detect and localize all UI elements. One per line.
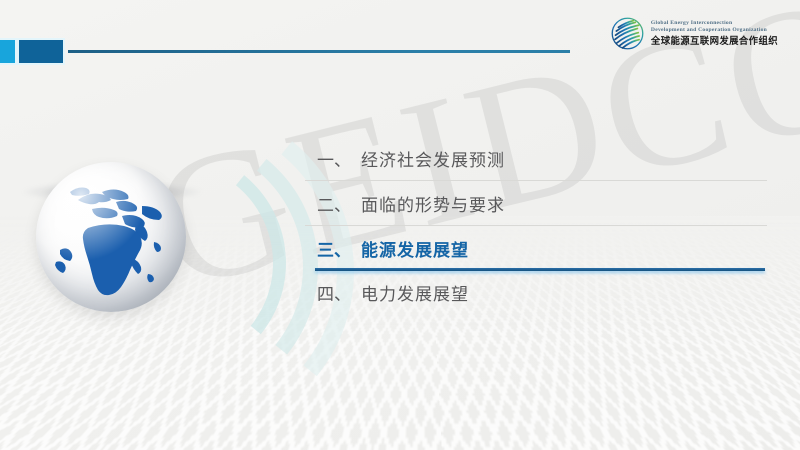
agenda-list: 一、 经济社会发展预测 二、 面临的形势与要求 三、 能源发展展望 四、 电力发…	[305, 136, 767, 314]
agenda-item-4-number: 四、	[305, 280, 361, 305]
agenda-item-4[interactable]: 四、 电力发展展望	[305, 270, 767, 314]
agenda-item-1-number: 一、	[305, 146, 361, 171]
globe-illustration	[36, 162, 186, 312]
header-accent-square-cyan	[0, 40, 15, 63]
logo-text-block: Global Energy Interconnection Developmen…	[651, 20, 778, 48]
agenda-item-1[interactable]: 一、 经济社会发展预测	[305, 136, 767, 181]
globe-earth-icon	[36, 162, 186, 312]
geidco-globe-mark-icon	[611, 17, 644, 50]
agenda-item-1-label: 经济社会发展预测	[361, 146, 505, 171]
agenda-item-3-label: 能源发展展望	[361, 236, 469, 261]
logo-english-line2: Development and Cooperation Organization	[651, 27, 778, 34]
agenda-item-3-number: 三、	[305, 236, 361, 261]
presentation-slide: GEIDCO	[0, 0, 800, 450]
header-divider-line	[68, 50, 570, 53]
logo-chinese-name: 全球能源互联网发展合作组织	[651, 35, 778, 47]
agenda-item-3[interactable]: 三、 能源发展展望	[305, 226, 767, 270]
agenda-item-2[interactable]: 二、 面临的形势与要求	[305, 181, 767, 226]
header-accent-square-blue	[19, 40, 63, 63]
geidco-logo: Global Energy Interconnection Developmen…	[611, 17, 778, 50]
logo-english-line1: Global Energy Interconnection	[651, 20, 778, 27]
agenda-item-2-number: 二、	[305, 191, 361, 216]
agenda-item-2-label: 面临的形势与要求	[361, 191, 505, 216]
globe-highlight	[36, 162, 186, 312]
agenda-item-4-label: 电力发展展望	[361, 280, 469, 305]
